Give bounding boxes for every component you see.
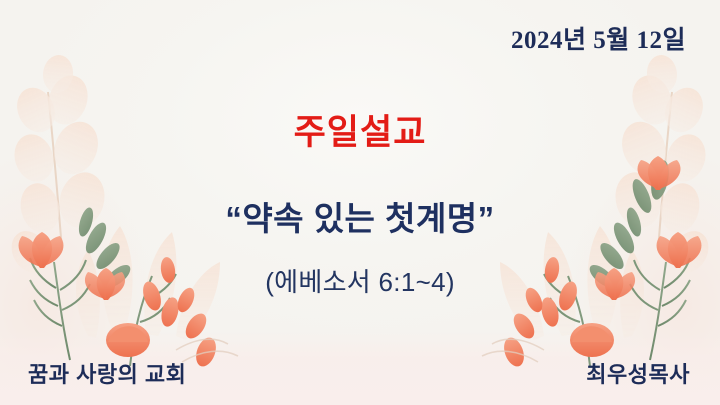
scripture-reference: (에베소서 6:1~4) bbox=[0, 262, 720, 299]
church-name: 꿈과 사랑의 교회 bbox=[28, 357, 186, 389]
sermon-type-label: 주일설교 bbox=[0, 104, 720, 155]
sermon-title: “약속 있는 첫계명” bbox=[0, 192, 720, 240]
service-date: 2024년 5월 12일 bbox=[511, 20, 686, 56]
sermon-slide: 2024년 5월 12일 주일설교 “약속 있는 첫계명” (에베소서 6:1~… bbox=[0, 0, 720, 405]
pastor-name: 최우성목사 bbox=[586, 357, 690, 389]
